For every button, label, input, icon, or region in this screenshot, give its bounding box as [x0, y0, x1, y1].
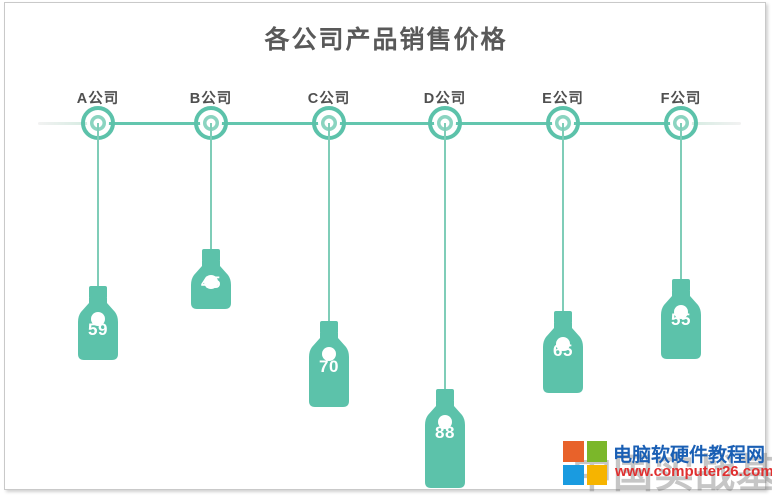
- value-label: 55: [658, 310, 704, 330]
- value-label: 65: [540, 341, 586, 361]
- value-label: 45: [188, 273, 234, 293]
- page-title: 各公司产品销售价格: [0, 20, 772, 56]
- drop-line: [562, 123, 564, 311]
- category-label: B公司: [156, 87, 266, 108]
- value-label: 59: [75, 320, 121, 340]
- brand-url: www.computer26.com: [615, 463, 772, 480]
- logo-square-green: [587, 441, 608, 462]
- brand-logo: 电脑软硬件教程网 www.computer26.com: [563, 437, 763, 493]
- category-label: E公司: [508, 87, 618, 108]
- chart-frame: [4, 2, 766, 490]
- logo-square-orange: [563, 441, 584, 462]
- logo-square-yellow: [587, 465, 608, 486]
- drop-line: [444, 123, 446, 389]
- category-label: A公司: [43, 87, 153, 108]
- category-label: C公司: [274, 87, 384, 108]
- drop-line: [328, 123, 330, 321]
- drop-line: [210, 123, 212, 249]
- value-label: 70: [306, 357, 352, 377]
- category-label: D公司: [390, 87, 500, 108]
- windows-logo-icon: [563, 441, 607, 485]
- value-label: 88: [422, 423, 468, 443]
- logo-square-blue: [563, 465, 584, 486]
- category-label: F公司: [626, 87, 736, 108]
- drop-line: [680, 123, 682, 279]
- chart-screenshot: 各公司产品销售价格 A公司 59 B公司: [0, 0, 772, 498]
- axis-line: [98, 122, 681, 125]
- drop-line: [97, 123, 99, 286]
